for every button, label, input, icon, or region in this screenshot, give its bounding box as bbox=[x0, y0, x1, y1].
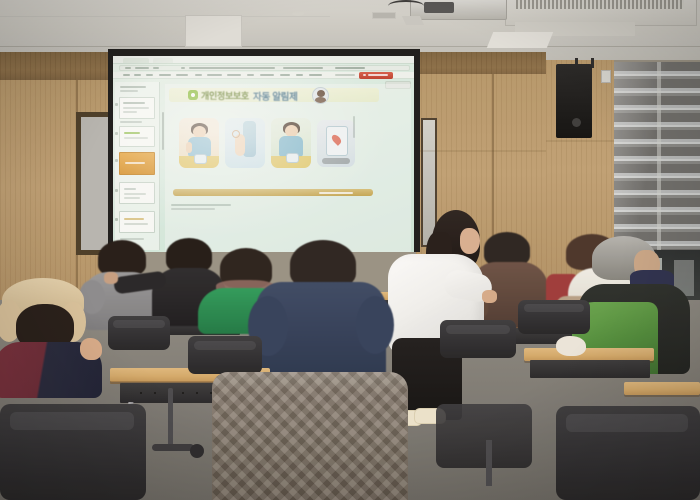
wall-seam bbox=[416, 150, 556, 152]
projection-screen: 개인정보보호 자동 알림제 bbox=[113, 56, 414, 252]
participant-navy-top bbox=[256, 240, 386, 392]
chair[interactable] bbox=[440, 320, 516, 358]
tissue-bundle bbox=[556, 336, 586, 356]
chair-caster-icon bbox=[190, 444, 204, 458]
chair-front-right[interactable] bbox=[556, 406, 700, 500]
chair-base bbox=[152, 444, 194, 451]
chair[interactable] bbox=[108, 316, 170, 350]
chair[interactable] bbox=[436, 404, 532, 468]
blind-mullion bbox=[657, 62, 661, 250]
quilt-highlight bbox=[212, 372, 408, 392]
ceiling-seam bbox=[0, 46, 700, 47]
projector-lens-icon bbox=[424, 2, 454, 13]
wall-seam bbox=[546, 140, 614, 142]
speaker-driver-icon bbox=[572, 118, 581, 127]
projector-mount bbox=[402, 16, 424, 25]
chair-post bbox=[168, 388, 173, 450]
projector-cable bbox=[388, 0, 424, 12]
wall-upper-left bbox=[0, 52, 120, 82]
ceiling-access-panel bbox=[185, 15, 242, 47]
classroom-photo: 개인정보보호 자동 알림제 bbox=[0, 0, 700, 500]
screen-roller-housing bbox=[108, 49, 420, 56]
ceiling-seam bbox=[0, 16, 330, 17]
wall-socket-icon bbox=[601, 70, 611, 83]
raised-hand bbox=[80, 338, 102, 360]
ceiling-speaker bbox=[556, 64, 592, 138]
chair[interactable] bbox=[518, 300, 590, 334]
chair-post bbox=[486, 440, 492, 486]
ceiling-fixture bbox=[372, 12, 396, 19]
chair-front-left[interactable] bbox=[0, 404, 146, 500]
desk-apron bbox=[530, 360, 650, 378]
chair[interactable] bbox=[188, 336, 262, 374]
desk-front-far-right bbox=[624, 382, 700, 395]
participant-beanie bbox=[0, 278, 110, 398]
ceiling-panel bbox=[487, 32, 553, 48]
instructor-face bbox=[460, 228, 480, 254]
smoke-detector-icon bbox=[292, 11, 304, 16]
